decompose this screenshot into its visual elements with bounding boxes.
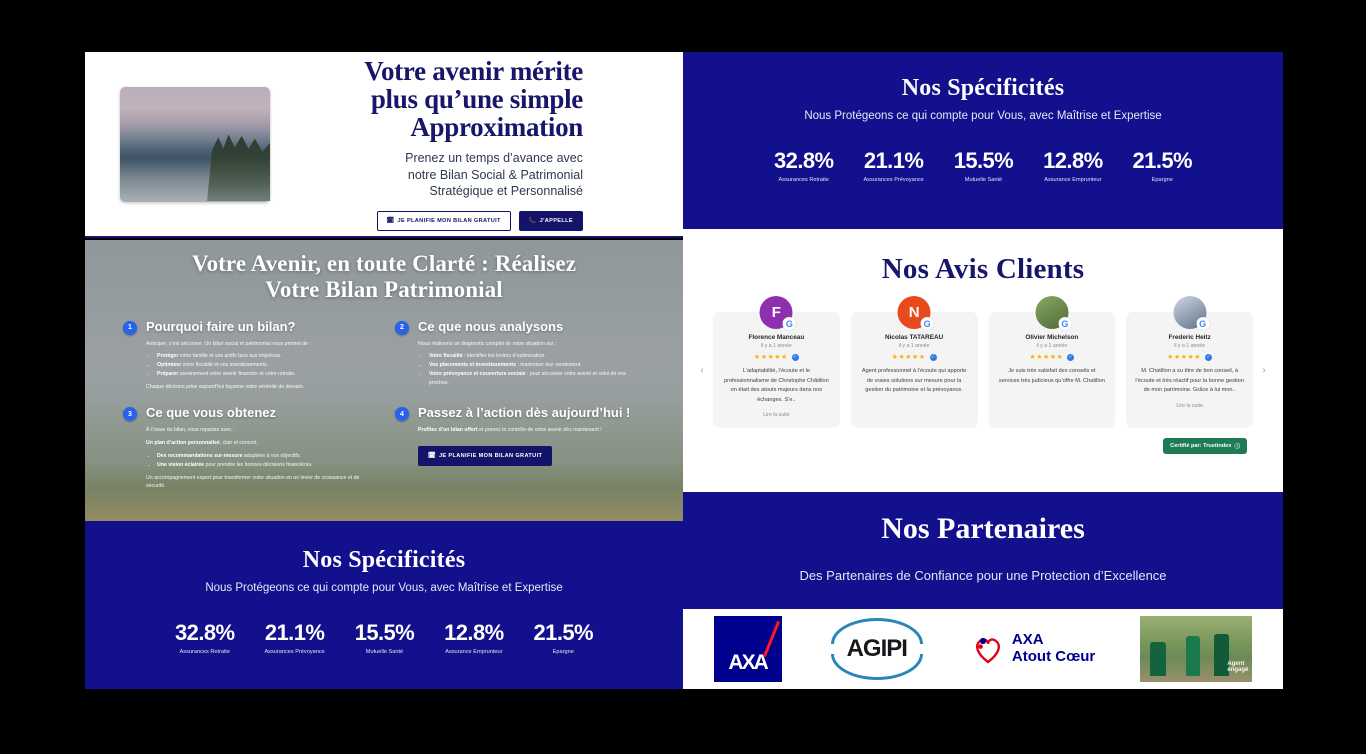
- stat-label: Assurances Prévoyance: [264, 649, 324, 655]
- review-author: Nicolas TATAREAU: [860, 334, 969, 341]
- verified-icon: ✓: [930, 354, 937, 361]
- review-date: il y a 1 année: [998, 343, 1107, 349]
- list-item: Protéger votre famille et vos actifs fac…: [157, 352, 373, 361]
- hero-title: Votre avenir mérite plus qu’une simple A…: [270, 57, 583, 141]
- list-item: Votre fiscalité : identifier les leviers…: [429, 352, 645, 361]
- atout-coeur-wordmark: AXA Atout Cœur: [1012, 632, 1095, 666]
- stat-item: 12.8% Assurance Emprunteur: [444, 620, 503, 655]
- stat-item: 32.8% Assurances Retraite: [774, 148, 833, 183]
- hero-subtitle-line-3: Stratégique et Personnalisé: [270, 183, 583, 200]
- stars-glyphs: ★★★★★: [1029, 353, 1063, 361]
- bilan-card-2-intro: Nous réalisons un diagnostic complet de …: [418, 340, 645, 349]
- hero-buttons: 🗓 JE PLANIFIE MON BILAN GRATUIT 📞 J'APPE…: [270, 211, 583, 231]
- stat-item: 21.5% Epargne: [1133, 148, 1192, 183]
- bilan-card-1-intro: Anticiper, c’est sécuriser. Un bilan soc…: [146, 340, 373, 349]
- avatar-initial: F: [772, 304, 781, 321]
- hero-title-line-1: Votre avenir mérite: [270, 57, 583, 85]
- list-item: Préparer sereinement votre avenir financ…: [157, 370, 373, 379]
- partenaires-section: Nos Partenaires Des Partenaires de Confi…: [683, 492, 1283, 609]
- stat-label: Assurance Emprunteur: [1043, 177, 1102, 183]
- avatar: F G: [760, 296, 793, 329]
- hero-subtitle-line-1: Prenez un temps d’avance avec: [270, 150, 583, 167]
- rating-stars: ★★★★★ ✓: [1135, 353, 1244, 361]
- bilan-card-3-bullets: Des recommandations sur-mesure adaptées …: [146, 452, 373, 470]
- bilan-card-3: 3 Ce que vous obtenez À l’issue du bilan…: [123, 405, 373, 494]
- chevron-right-icon[interactable]: ›: [1257, 363, 1271, 377]
- bilan-card-2-title: Ce que nous analysons: [418, 319, 563, 334]
- hero-title-line-3: Approximation: [270, 113, 583, 141]
- hero-section: Votre avenir mérite plus qu’une simple A…: [85, 52, 683, 238]
- bilan-card-2-bullets: Votre fiscalité : identifier les leviers…: [418, 352, 645, 388]
- bilan-heading-line-1: Votre Avenir, en toute Clarté : Réalisez: [85, 251, 683, 277]
- list-item: Optimiser votre fiscalité et vos investi…: [157, 361, 373, 370]
- volunteer-figure: [1150, 642, 1166, 676]
- stat-label: Assurances Retraite: [175, 649, 234, 655]
- stat-value: 32.8%: [175, 620, 234, 646]
- specificites-section-right: Nos Spécificités Nous Protégeons ce qui …: [683, 52, 1283, 229]
- stat-label: Assurances Prévoyance: [863, 177, 923, 183]
- rating-stars: ★★★★★ ✓: [998, 353, 1107, 361]
- review-date: il y a 1 année: [1135, 343, 1244, 349]
- stars-glyphs: ★★★★★: [1167, 353, 1201, 361]
- read-more-link[interactable]: Lire la suite: [722, 412, 831, 418]
- rating-stars: ★★★★★ ✓: [722, 353, 831, 361]
- agent-engage-line-2: engagé: [1227, 667, 1248, 674]
- partenaires-title: Nos Partenaires: [683, 512, 1283, 546]
- bilan-card-2-number: 2: [395, 321, 409, 335]
- partner-logos-row: AXA AGIPI AXA Atout Cœur: [683, 609, 1283, 689]
- bilan-card-3-outro: Un accompagnement expert pour transforme…: [146, 474, 373, 491]
- stat-value: 21.5%: [1133, 148, 1192, 174]
- agipi-arc-bottom-icon: [831, 654, 923, 680]
- review-card: G Frederic Heitz il y a 1 année ★★★★★ ✓ …: [1126, 312, 1253, 428]
- hero-subtitle-line-2: notre Bilan Social & Patrimonial: [270, 167, 583, 184]
- avatar: G: [1173, 296, 1206, 329]
- bilan-card-1-outro: Chaque décision prise aujourd’hui façonn…: [146, 383, 373, 392]
- review-author: Florence Manceau: [722, 334, 831, 341]
- stat-value: 12.8%: [1043, 148, 1102, 174]
- bilan-card-1: 1 Pourquoi faire un bilan? Anticiper, c’…: [123, 319, 373, 396]
- list-item: Vos placements et investissements : maxi…: [429, 361, 645, 370]
- bilan-card-3-number: 3: [123, 407, 137, 421]
- screenshot-stage: Votre avenir mérite plus qu’une simple A…: [0, 0, 1366, 754]
- bilan-section: Votre Avenir, en toute Clarté : Réalisez…: [85, 240, 683, 521]
- stat-label: Epargne: [534, 649, 593, 655]
- calendar-icon: 🗓: [387, 218, 395, 224]
- review-date: il y a 1 année: [722, 343, 831, 349]
- bilan-card-2: 2 Ce que nous analysons Nous réalisons u…: [395, 319, 645, 396]
- bilan-cta-button[interactable]: 🗓 JE PLANIFIE MON BILAN GRATUIT: [418, 446, 552, 466]
- stat-item: 21.5% Epargne: [534, 620, 593, 655]
- atout-line-1: AXA: [1012, 632, 1095, 649]
- list-item: Des recommandations sur-mesure adaptées …: [157, 452, 373, 461]
- hero-title-line-2: plus qu’une simple: [270, 85, 583, 113]
- plan-free-bilan-button[interactable]: 🗓 JE PLANIFIE MON BILAN GRATUIT: [377, 211, 511, 231]
- google-icon: G: [1196, 317, 1209, 330]
- verified-icon: ✓: [792, 354, 799, 361]
- call-me-label: J'APPELLE: [540, 218, 573, 224]
- stat-value: 21.1%: [863, 148, 923, 174]
- call-me-button[interactable]: 📞 J'APPELLE: [519, 211, 583, 231]
- stat-item: 32.8% Assurances Retraite: [175, 620, 234, 655]
- google-icon: G: [783, 317, 796, 330]
- avis-clients-section: Nos Avis Clients ‹ F G Florence Manceau …: [683, 229, 1283, 492]
- hero-subtitle: Prenez un temps d’avance avec notre Bila…: [270, 150, 583, 200]
- specificites-subtitle: Nous Protégeons ce qui compte pour Vous,…: [85, 582, 683, 594]
- bilan-card-4: 4 Passez à l’action dès aujourd’hui ! Pr…: [395, 405, 645, 494]
- bilan-heading-line-2: Votre Bilan Patrimonial: [85, 277, 683, 303]
- stars-glyphs: ★★★★★: [892, 353, 926, 361]
- rating-stars: ★★★★★ ✓: [860, 353, 969, 361]
- bilan-card-1-bullets: Protéger votre famille et vos actifs fac…: [146, 352, 373, 379]
- axa-wordmark: AXA: [728, 651, 766, 675]
- review-card: N G Nicolas TATAREAU il y a 1 année ★★★★…: [851, 312, 978, 428]
- specificites-subtitle: Nous Protégeons ce qui compte pour Vous,…: [683, 110, 1283, 122]
- logo-agent-engage-photo[interactable]: Agent engagé: [1140, 616, 1252, 682]
- stat-value: 15.5%: [355, 620, 414, 646]
- axa-slash-icon: [763, 621, 780, 657]
- stat-item: 21.1% Assurances Prévoyance: [264, 620, 324, 655]
- avatar-initial: N: [909, 304, 920, 321]
- trustindex-label: Certifié par: Trustindex: [1170, 443, 1231, 449]
- calendar-icon: 🗓: [428, 453, 436, 459]
- review-text: M. Chatillon a su être de bon conseil, à…: [1135, 367, 1244, 396]
- verified-icon: ✓: [1205, 354, 1212, 361]
- bilan-card-3-intro2: Un plan d’action personnalisé, clair et …: [146, 439, 373, 448]
- bilan-cta-label: JE PLANIFIE MON BILAN GRATUIT: [439, 453, 542, 459]
- logo-axa[interactable]: AXA: [714, 616, 782, 682]
- bilan-card-3-title: Ce que vous obtenez: [146, 405, 276, 420]
- bilan-card-3-intro: À l’issue du bilan, vous repartez avec :: [146, 426, 373, 435]
- stat-label: Mutuelle Santé: [355, 649, 414, 655]
- stat-label: Epargne: [1133, 177, 1192, 183]
- avatar: G: [1035, 296, 1068, 329]
- specificites-title: Nos Spécificités: [683, 75, 1283, 102]
- review-date: il y a 1 année: [860, 343, 969, 349]
- reviews-carousel: ‹ F G Florence Manceau il y a 1 année ★★…: [683, 312, 1283, 428]
- avis-title: Nos Avis Clients: [683, 229, 1283, 286]
- trustindex-badge[interactable]: Certifié par: Trustindex ⓘ: [1163, 438, 1247, 454]
- specificites-stats: 32.8% Assurances Retraite 21.1% Assuranc…: [683, 148, 1283, 183]
- chevron-left-icon[interactable]: ‹: [695, 363, 709, 377]
- review-author: Frederic Heitz: [1135, 334, 1244, 341]
- stat-value: 21.1%: [264, 620, 324, 646]
- stat-label: Assurances Retraite: [774, 177, 833, 183]
- list-item: Votre prévoyance et couverture sociale :…: [429, 370, 645, 388]
- heart-icon: [972, 633, 1004, 665]
- stat-value: 12.8%: [444, 620, 503, 646]
- stat-item: 15.5% Mutuelle Santé: [954, 148, 1013, 183]
- stat-label: Assurance Emprunteur: [444, 649, 503, 655]
- agent-engage-tag: Agent engagé: [1227, 661, 1248, 674]
- review-text: L’adaptabilité, l’écoute et le professio…: [722, 367, 831, 405]
- review-text: Agent professionnel à l’écoute qui appor…: [860, 367, 969, 396]
- atout-line-2: Atout Cœur: [1012, 649, 1095, 666]
- review-card: G Olivier Michelson il y a 1 année ★★★★★…: [989, 312, 1116, 428]
- review-text: Je suis très satisfait des conseils et s…: [998, 367, 1107, 386]
- volunteer-figure: [1186, 636, 1200, 676]
- stat-item: 21.1% Assurances Prévoyance: [863, 148, 923, 183]
- info-icon: ⓘ: [1234, 442, 1240, 450]
- agipi-arc-top-icon: [831, 618, 923, 644]
- stat-item: 15.5% Mutuelle Santé: [355, 620, 414, 655]
- logo-agipi[interactable]: AGIPI: [827, 620, 927, 678]
- plan-free-bilan-label: JE PLANIFIE MON BILAN GRATUIT: [398, 218, 501, 224]
- specificites-stats: 32.8% Assurances Retraite 21.1% Assuranc…: [85, 620, 683, 655]
- bilan-card-4-title: Passez à l’action dès aujourd’hui !: [418, 405, 630, 420]
- verified-icon: ✓: [1067, 354, 1074, 361]
- logo-axa-atout-coeur[interactable]: AXA Atout Cœur: [972, 632, 1095, 666]
- bilan-card-4-intro: Profitez d’un bilan offert et prenez le …: [418, 426, 645, 435]
- read-more-link[interactable]: Lire la suite: [1135, 403, 1244, 409]
- avatar: N G: [898, 296, 931, 329]
- list-item: Une vision éclairée pour prendre les bon…: [157, 461, 373, 470]
- partenaires-subtitle: Des Partenaires de Confiance pour une Pr…: [683, 568, 1283, 583]
- bilan-cards-grid: 1 Pourquoi faire un bilan? Anticiper, c’…: [85, 303, 683, 495]
- hero-image: [120, 87, 270, 202]
- phone-icon: 📞: [529, 218, 537, 224]
- stat-value: 32.8%: [774, 148, 833, 174]
- review-card: F G Florence Manceau il y a 1 année ★★★★…: [713, 312, 840, 428]
- stat-value: 21.5%: [534, 620, 593, 646]
- bilan-heading: Votre Avenir, en toute Clarté : Réalisez…: [85, 240, 683, 303]
- bilan-card-1-number: 1: [123, 321, 137, 335]
- review-author: Olivier Michelson: [998, 334, 1107, 341]
- specificites-section-left: Nos Spécificités Nous Protégeons ce qui …: [85, 521, 683, 689]
- stat-label: Mutuelle Santé: [954, 177, 1013, 183]
- google-icon: G: [921, 317, 934, 330]
- bilan-card-4-number: 4: [395, 407, 409, 421]
- stat-item: 12.8% Assurance Emprunteur: [1043, 148, 1102, 183]
- specificites-title: Nos Spécificités: [85, 547, 683, 574]
- bilan-card-1-title: Pourquoi faire un bilan?: [146, 319, 296, 334]
- agent-engage-line-1: Agent: [1227, 661, 1248, 668]
- stat-value: 15.5%: [954, 148, 1013, 174]
- google-icon: G: [1058, 317, 1071, 330]
- stars-glyphs: ★★★★★: [754, 353, 788, 361]
